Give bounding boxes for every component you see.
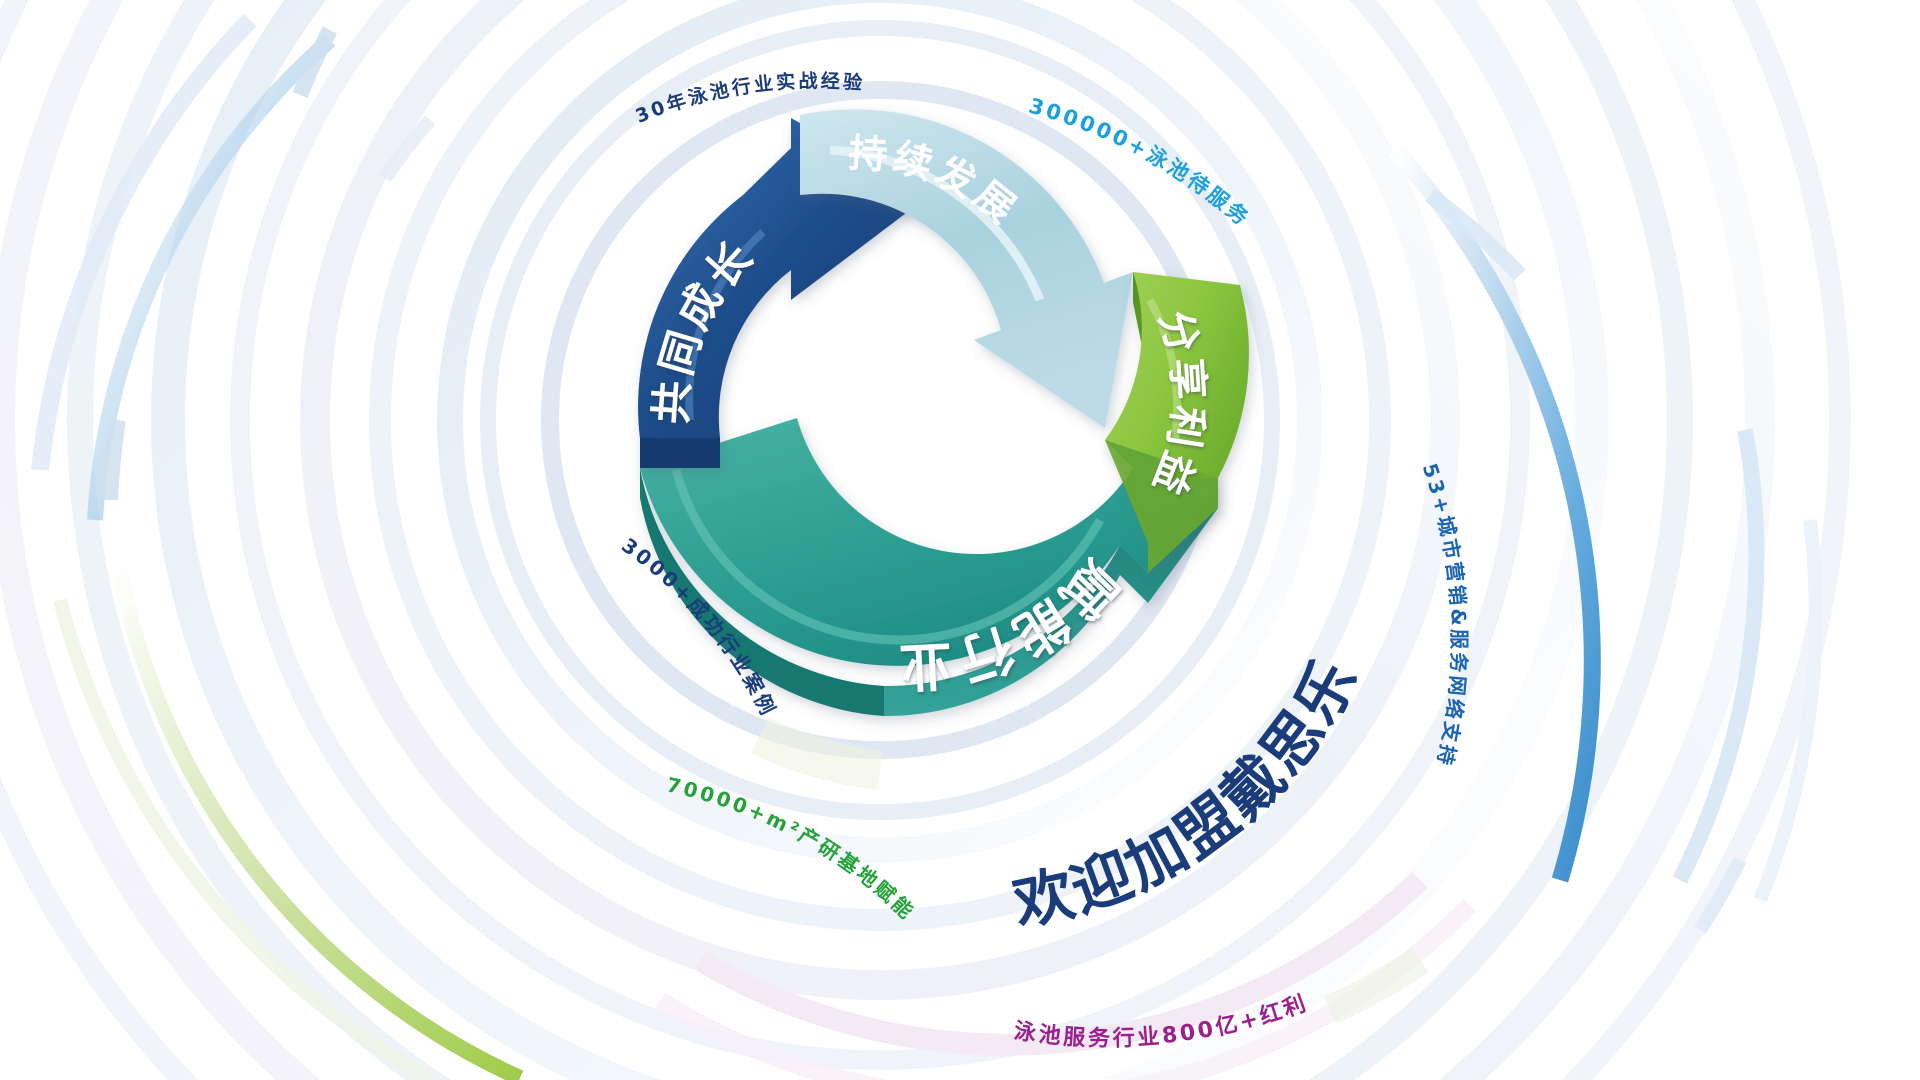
infographic-canvas: 共同成长 持续发展 分享利益 赋能行业 30年泳池行业实战经验 300000+泳… (0, 0, 1920, 1080)
infographic-svg: 共同成长 持续发展 分享利益 赋能行业 30年泳池行业实战经验 300000+泳… (0, 0, 1920, 1080)
cycle-diagram: 共同成长 持续发展 分享利益 赋能行业 (638, 109, 1249, 716)
